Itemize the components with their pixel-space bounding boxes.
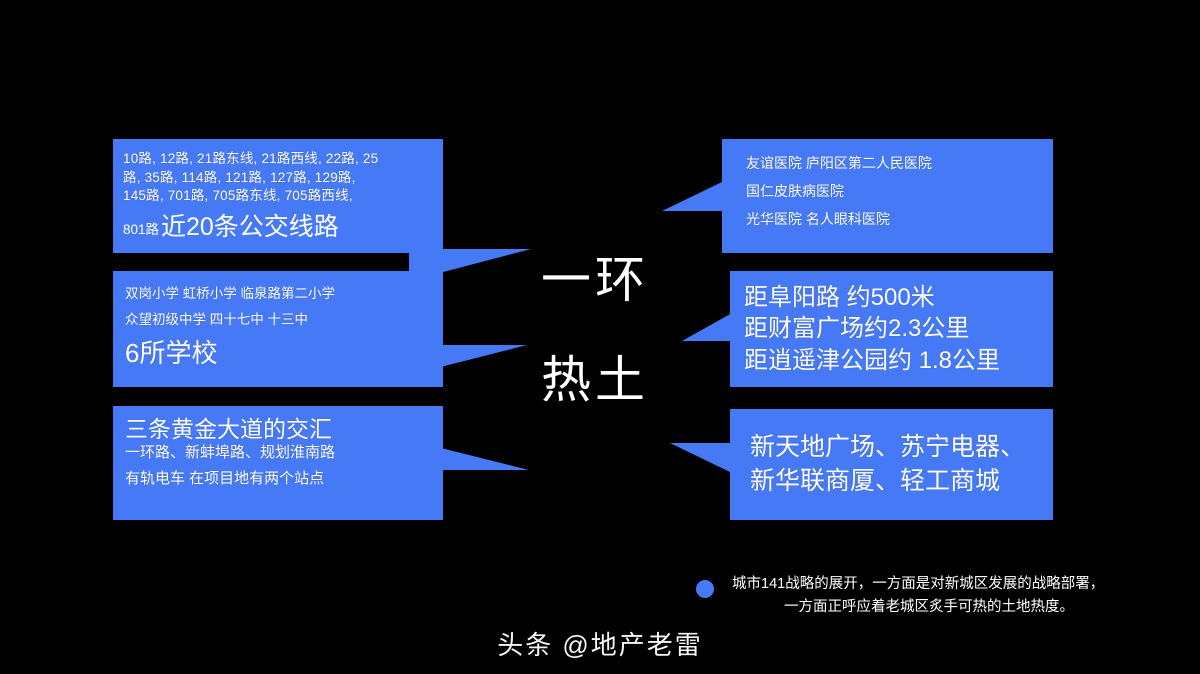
road-highlight: 三条黄金大道的交汇 [125, 416, 435, 443]
bus-highlight: 近20条公交线路 [161, 207, 339, 243]
school-line-1: 双岗小学 虹桥小学 临泉路第二小学 [125, 281, 435, 307]
bottom-note-line-2: 一方面正呼应着老城区炙手可热的土地热度。 [732, 596, 1196, 619]
hospital-line-2: 国仁皮肤病医院 [746, 177, 1045, 205]
commerce-line-1: 新天地广场、苏宁电器、 [750, 431, 1045, 465]
school-highlight: 6所学校 [125, 338, 435, 370]
callout-distances[interactable]: 距阜阳路 约500米 距财富广场约2.3公里 距逍遥津公园约 1.8公里 [730, 271, 1053, 387]
bus-line-1: 10路, 12路, 21路东线, 21路西线, 22路, 25 [123, 150, 435, 169]
callout-schools-body: 双岗小学 虹桥小学 临泉路第二小学 众望初级中学 四十七中 十三中 6所学校 [113, 271, 443, 387]
callout-hospitals-body: 友谊医院 庐阳区第二人民医院 国仁皮肤病医院 光华医院 名人眼科医院 [722, 139, 1053, 253]
bus-summary-row: 801路 近20条公交线路 [123, 207, 435, 241]
road-line-2: 有轨电车 在项目地有两个站点 [125, 469, 435, 489]
bottom-note-text: 城市141战略的展开，一方面是对新城区发展的战略部署， 一方面正呼应着老城区炙手… [732, 573, 1196, 620]
distance-line-2: 距财富广场约2.3公里 [744, 313, 1045, 344]
watermark: 头条 @地产老雷 [0, 625, 1200, 662]
callout-bus-body: 10路, 12路, 21路东线, 21路西线, 22路, 25 路, 35路, … [113, 139, 443, 253]
page-title: 一环 热土 [500, 255, 690, 405]
distance-line-3: 距逍遥津公园约 1.8公里 [744, 345, 1045, 376]
callout-bus-lines[interactable]: 10路, 12路, 21路东线, 21路西线, 22路, 25 路, 35路, … [113, 139, 443, 253]
distance-line-1: 距阜阳路 约500米 [744, 282, 1045, 313]
callout-commerce-body: 新天地广场、苏宁电器、 新华联商厦、轻工商城 [730, 409, 1053, 520]
callout-roads[interactable]: 三条黄金大道的交汇 一环路、新蚌埠路、规划淮南路 有轨电车 在项目地有两个站点 [113, 406, 443, 520]
callout-tail-commerce [670, 443, 732, 473]
center-title-line-1: 一环 [500, 255, 690, 305]
callout-distances-body: 距阜阳路 约500米 距财富广场约2.3公里 距逍遥津公园约 1.8公里 [730, 271, 1053, 387]
callout-commerce[interactable]: 新天地广场、苏宁电器、 新华联商厦、轻工商城 [730, 409, 1053, 520]
bus-line-2: 路, 35路, 114路, 121路, 127路, 129路, [123, 169, 435, 188]
callout-roads-body: 三条黄金大道的交汇 一环路、新蚌埠路、规划淮南路 有轨电车 在项目地有两个站点 [113, 406, 443, 520]
bus-line-4: 801路 [123, 218, 159, 238]
bottom-note: 城市141战略的展开，一方面是对新城区发展的战略部署， 一方面正呼应着老城区炙手… [696, 573, 1196, 620]
bullet-dot-icon [696, 580, 714, 598]
school-line-2: 众望初级中学 四十七中 十三中 [125, 307, 435, 333]
slide-canvas: 10路, 12路, 21路东线, 21路西线, 22路, 25 路, 35路, … [0, 0, 1200, 674]
center-title-line-2: 热土 [500, 355, 690, 405]
bus-line-3: 145路, 701路, 705路东线, 705路西线, [123, 187, 435, 206]
callout-hospitals[interactable]: 友谊医院 庐阳区第二人民医院 国仁皮肤病医院 光华医院 名人眼科医院 [722, 139, 1053, 253]
hospital-line-3: 光华医院 名人眼科医院 [746, 205, 1045, 233]
callout-schools[interactable]: 双岗小学 虹桥小学 临泉路第二小学 众望初级中学 四十七中 十三中 6所学校 [113, 271, 443, 387]
callout-tail-hospitals [662, 181, 724, 211]
road-line-1: 一环路、新蚌埠路、规划淮南路 [125, 443, 435, 463]
hospital-line-1: 友谊医院 庐阳区第二人民医院 [746, 149, 1045, 177]
commerce-line-2: 新华联商厦、轻工商城 [750, 465, 1045, 499]
bottom-note-line-1: 城市141战略的展开，一方面是对新城区发展的战略部署， [732, 573, 1196, 596]
